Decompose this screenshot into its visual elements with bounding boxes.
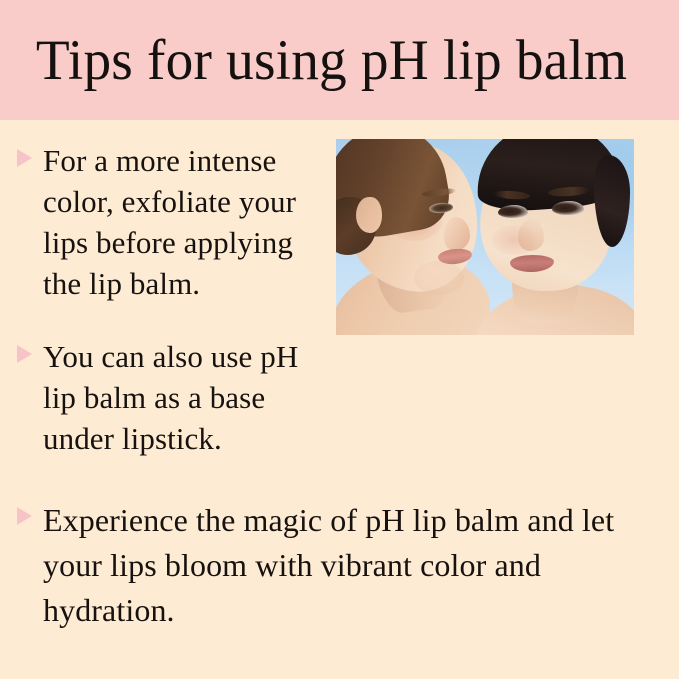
tip-item-2: You can also use pH lip balm as a base u… xyxy=(17,336,327,459)
left-woman-chin xyxy=(414,261,464,295)
tip-item-1-text: For a more intense color, exfoliate your… xyxy=(43,140,327,304)
right-woman-nose xyxy=(518,219,544,251)
two-women-faces-photo xyxy=(336,139,634,335)
triangle-right-icon xyxy=(17,507,32,525)
header-band: Tips for using pH lip balm xyxy=(0,0,679,120)
right-woman-eye-right xyxy=(552,201,584,215)
right-woman-eye-left xyxy=(498,205,528,218)
triangle-right-icon xyxy=(17,149,32,167)
tip-item-3-text: Experience the magic of pH lip balm and … xyxy=(43,498,639,633)
tips-body: For a more intense color, exfoliate your… xyxy=(0,120,679,679)
left-woman-ear xyxy=(356,197,382,233)
triangle-right-icon xyxy=(17,345,32,363)
tip-item-1: For a more intense color, exfoliate your… xyxy=(17,140,327,304)
lip-balm-tips-infographic: Tips for using pH lip balm xyxy=(0,0,679,679)
tip-item-3: Experience the magic of pH lip balm and … xyxy=(17,498,639,633)
page-title: Tips for using pH lip balm xyxy=(0,32,627,89)
tip-item-2-text: You can also use pH lip balm as a base u… xyxy=(43,336,327,459)
